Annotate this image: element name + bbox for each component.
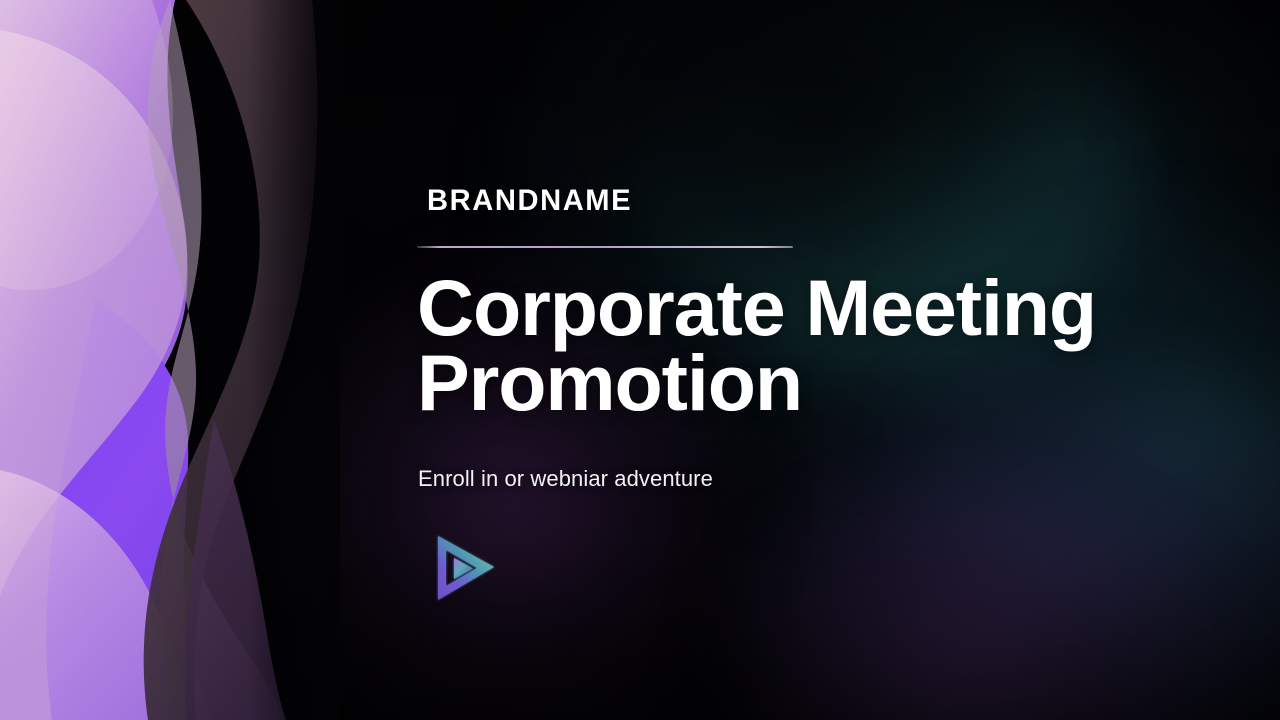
logo xyxy=(432,530,498,606)
brand-name: BRANDNAME xyxy=(427,186,1174,216)
presentation-slide: BRANDNAME Corporate Meeting Promotion En… xyxy=(0,0,1280,720)
title-divider xyxy=(417,246,793,248)
page-title: Corporate Meeting Promotion xyxy=(417,270,1197,421)
subtitle: Enroll in or webniar adventure xyxy=(418,466,1197,492)
slide-content: BRANDNAME Corporate Meeting Promotion En… xyxy=(417,186,1197,606)
play-triangle-logo-icon xyxy=(432,530,498,606)
